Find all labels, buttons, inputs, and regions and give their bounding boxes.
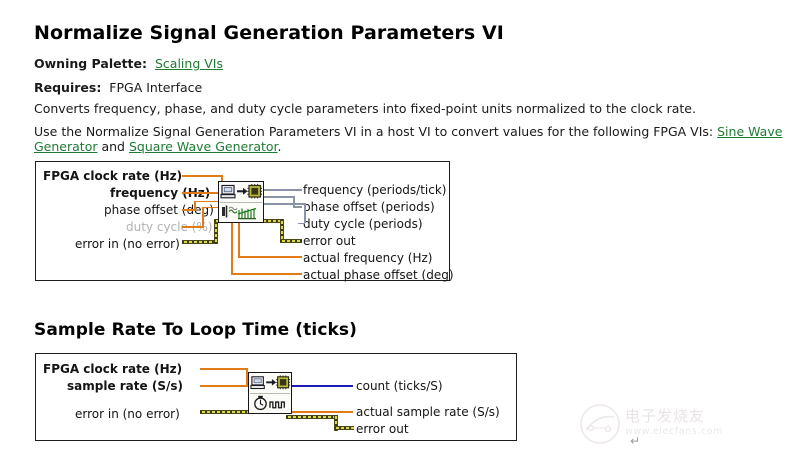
requires-line: Requires: FPGA Interface — [34, 80, 202, 95]
description-paragraph: Converts frequency, phase, and duty cycl… — [34, 101, 774, 116]
vi-icon-sample-rate-to-loop-time[interactable] — [248, 372, 292, 414]
d2-wire-error-in — [200, 410, 250, 414]
d2-input-label-error-in: error in (no error) — [75, 408, 180, 420]
d2-wire-actual-sample-rate — [286, 411, 353, 413]
d2-wire-fpga-clock-h — [200, 368, 248, 370]
wire-out-frequency — [264, 189, 302, 191]
owning-palette-label: Owning Palette: — [34, 56, 147, 71]
d2-icon-clock-pulse — [249, 393, 291, 413]
d2-icon-host-to-fpga — [249, 373, 291, 393]
wire-duty-cycle-h1 — [182, 226, 204, 228]
owning-palette-line: Owning Palette: Scaling VIs — [34, 56, 223, 71]
output-label-actual-phase-offset: actual phase offset (deg) — [303, 269, 454, 281]
wire-out-phase-h2 — [293, 206, 302, 208]
output-label-frequency-periods-tick: frequency (periods/tick) — [303, 184, 446, 196]
d2-output-label-count: count (ticks/S) — [356, 380, 443, 392]
wire-error-out-h2 — [280, 239, 302, 243]
icon-signal-generator — [219, 202, 263, 222]
wire-actual-frequency-h — [238, 256, 302, 258]
wire-actual-phase-v — [231, 218, 233, 274]
diagram-connector-pane-sample-rate: FPGA clock rate (Hz) sample rate (S/s) e… — [35, 353, 517, 441]
output-label-actual-frequency: actual frequency (Hz) — [303, 252, 432, 264]
usage-paragraph: Use the Normalize Signal Generation Para… — [34, 124, 799, 154]
wire-error-in-h1 — [182, 240, 218, 244]
output-label-duty-cycle-periods: duty cycle (periods) — [303, 218, 423, 230]
d2-wire-error-out-h1 — [286, 415, 338, 419]
wire-out-duty-h1 — [264, 203, 306, 205]
signal-generator-glyph — [220, 203, 262, 221]
wire-fpga-clock-rate-h — [182, 175, 223, 177]
d2-input-label-sample-rate: sample rate (S/s) — [67, 380, 183, 392]
input-label-fpga-clock-rate: FPGA clock rate (Hz) — [43, 170, 182, 182]
vi-icon-normalize-signal-generation[interactable] — [218, 181, 264, 223]
host-to-fpga-glyph — [220, 183, 262, 201]
wire-actual-frequency-v — [238, 218, 240, 257]
requires-value: FPGA Interface — [109, 80, 202, 95]
d2-output-label-actual-sample-rate: actual sample rate (S/s) — [356, 406, 500, 418]
wire-phase-offset-v — [194, 201, 196, 210]
d2-wire-count — [286, 385, 353, 387]
section2-title: Sample Rate To Loop Time (ticks) — [34, 320, 357, 340]
d2-output-label-error-out: error out — [356, 423, 409, 435]
diagram-connector-pane-normalize: FPGA clock rate (Hz) frequency (Hz) phas… — [35, 161, 450, 281]
paragraph-return-mark: ↵ — [630, 434, 640, 448]
watermark: 电子发烧友 www.elecfans.com — [625, 405, 723, 437]
owning-palette-link[interactable]: Scaling VIs — [155, 56, 223, 71]
document-page: Normalize Signal Generation Parameters V… — [0, 0, 807, 458]
d2-input-label-fpga-clock-rate: FPGA clock rate (Hz) — [43, 363, 182, 375]
wire-actual-phase-h — [231, 273, 302, 275]
page-title: Normalize Signal Generation Parameters V… — [34, 22, 504, 44]
input-label-error-in: error in (no error) — [75, 238, 180, 250]
watermark-text: 电子发烧友 — [625, 405, 723, 426]
host-to-fpga-glyph — [250, 374, 290, 392]
icon-host-to-fpga — [219, 182, 263, 202]
input-label-phase-offset: phase offset (deg) — [104, 204, 214, 216]
square-wave-generator-link[interactable]: Square Wave Generator — [129, 139, 278, 154]
output-label-phase-offset-periods: phase offset (periods) — [303, 201, 435, 213]
output-label-error-out: error out — [303, 235, 356, 247]
stopwatch-pulse-glyph — [250, 394, 290, 412]
usage-suffix: . — [278, 139, 282, 154]
d2-wire-error-out-h2 — [334, 426, 354, 430]
wire-error-out-v — [280, 219, 284, 241]
usage-joiner: and — [97, 139, 128, 154]
watermark-logo-icon — [579, 403, 623, 445]
wire-out-duty-h2 — [298, 223, 305, 225]
d2-wire-sample-rate-h — [200, 385, 248, 387]
usage-prefix: Use the Normalize Signal Generation Para… — [34, 124, 717, 139]
requires-label: Requires: — [34, 80, 101, 95]
wire-out-duty-v — [304, 203, 306, 223]
wire-out-phase-h1 — [264, 196, 295, 198]
wire-duty-cycle-v — [202, 207, 204, 227]
